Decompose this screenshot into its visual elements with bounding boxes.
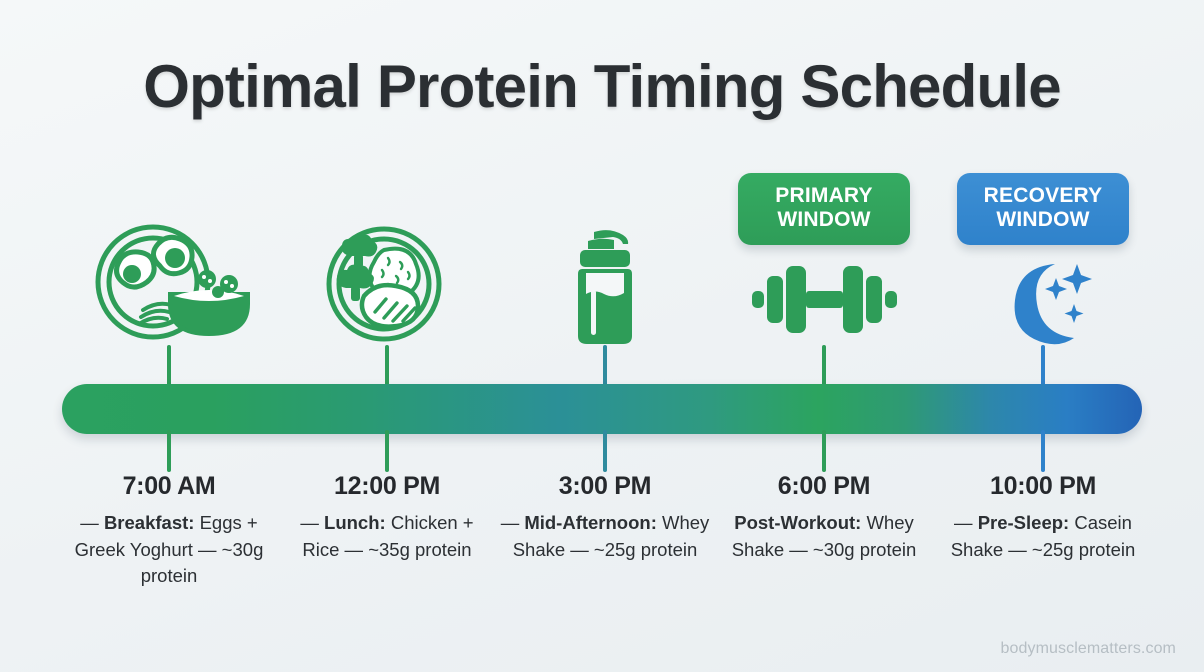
dumbbell-icon — [752, 263, 897, 335]
stem-bottom-1 — [167, 430, 171, 472]
timeline-stop-2: 12:00 PM — Lunch: Chicken + Rice — ~35g … — [281, 472, 493, 563]
badge-primary-window: PRIMARY WINDOW — [738, 173, 910, 245]
watermark: bodymusclematters.com — [1001, 640, 1177, 658]
shaker-bottle-icon — [560, 228, 650, 348]
infographic-canvas: Optimal Protein Timing Schedule — [0, 0, 1204, 672]
badge-recovery-window: RECOVERY WINDOW — [957, 173, 1129, 245]
stem-top-3 — [603, 345, 607, 387]
stop-desc-5: — Pre-Sleep: Casein Shake — ~25g protein — [937, 510, 1149, 563]
stop-time-4: 6:00 PM — [718, 472, 930, 501]
stem-top-4 — [822, 345, 826, 387]
stem-top-5 — [1041, 345, 1045, 387]
stem-top-2 — [385, 345, 389, 387]
timeline-stop-3: 3:00 PM — Mid-Afternoon: Whey Shake — ~2… — [499, 472, 711, 563]
stem-bottom-2 — [385, 430, 389, 472]
stop-time-3: 3:00 PM — [499, 472, 711, 501]
breakfast-plate-icon — [75, 222, 255, 347]
timeline-gradient-bar — [62, 384, 1142, 434]
stem-bottom-3 — [603, 430, 607, 472]
crescent-moon-icon — [995, 252, 1095, 347]
stop-time-1: 7:00 AM — [63, 472, 275, 501]
stem-bottom-5 — [1041, 430, 1045, 472]
stop-desc-3: — Mid-Afternoon: Whey Shake — ~25g prote… — [499, 510, 711, 563]
page-title: Optimal Protein Timing Schedule — [0, 52, 1204, 121]
stop-desc-4: Post-Workout: Whey Shake — ~30g protein — [718, 510, 930, 563]
stem-bottom-4 — [822, 430, 826, 472]
stop-time-5: 10:00 PM — [937, 472, 1149, 501]
stop-time-2: 12:00 PM — [281, 472, 493, 501]
stop-desc-1: — Breakfast: Eggs + Greek Yoghurt — ~30g… — [63, 510, 275, 590]
timeline-stop-4: 6:00 PM Post-Workout: Whey Shake — ~30g … — [718, 472, 930, 563]
stop-desc-2: — Lunch: Chicken + Rice — ~35g protein — [281, 510, 493, 563]
stem-top-1 — [167, 345, 171, 387]
lunch-plate-icon — [322, 224, 446, 344]
timeline-stop-1: 7:00 AM — Breakfast: Eggs + Greek Yoghur… — [63, 472, 275, 590]
timeline-stop-5: 10:00 PM — Pre-Sleep: Casein Shake — ~25… — [937, 472, 1149, 563]
